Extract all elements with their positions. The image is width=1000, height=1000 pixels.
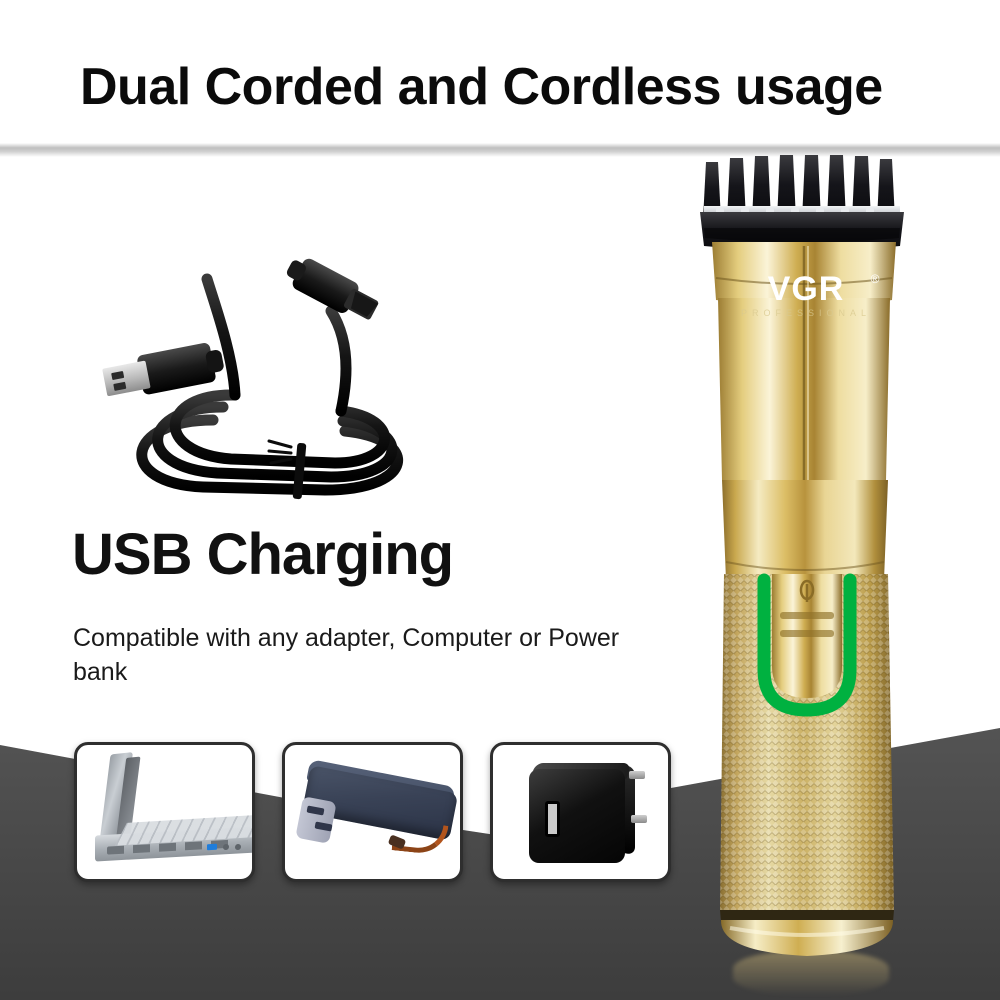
- product-feature-banner: Dual Corded and Cordless usage: [0, 0, 1000, 1000]
- feature-title: USB Charging: [72, 521, 453, 588]
- compatibility-thumbnails: [74, 742, 671, 882]
- trimmer-head: VGR ® PROFESSIONAL: [712, 242, 896, 490]
- power-bank-cap-icon: [295, 796, 336, 844]
- adapter-body-icon: [529, 769, 625, 863]
- laptop-usb3-port-icon: [207, 844, 217, 851]
- product-image-trimmer: VGR ® PROFESSIONAL: [660, 150, 960, 970]
- trimmer-base: [720, 910, 894, 956]
- adapter-pin-bottom-icon: [631, 815, 647, 823]
- brand-logo-text: VGR: [768, 270, 845, 308]
- thumbnail-laptop[interactable]: [74, 742, 255, 882]
- thumbnail-wall-adapter[interactable]: [490, 742, 671, 882]
- adapter-pin-top-icon: [629, 771, 645, 779]
- feature-subtitle: Compatible with any adapter, Computer or…: [73, 622, 633, 690]
- brand-registered-mark: ®: [871, 272, 880, 286]
- thumbnail-power-bank[interactable]: [282, 742, 463, 882]
- page-title: Dual Corded and Cordless usage: [80, 57, 883, 117]
- trimmer-switch-section: [720, 480, 894, 910]
- adapter-usb-port-icon: [545, 801, 560, 837]
- comb-attachment: [700, 155, 904, 251]
- usb-cable-image: [95, 215, 455, 505]
- brand-subtext: PROFESSIONAL: [741, 308, 871, 318]
